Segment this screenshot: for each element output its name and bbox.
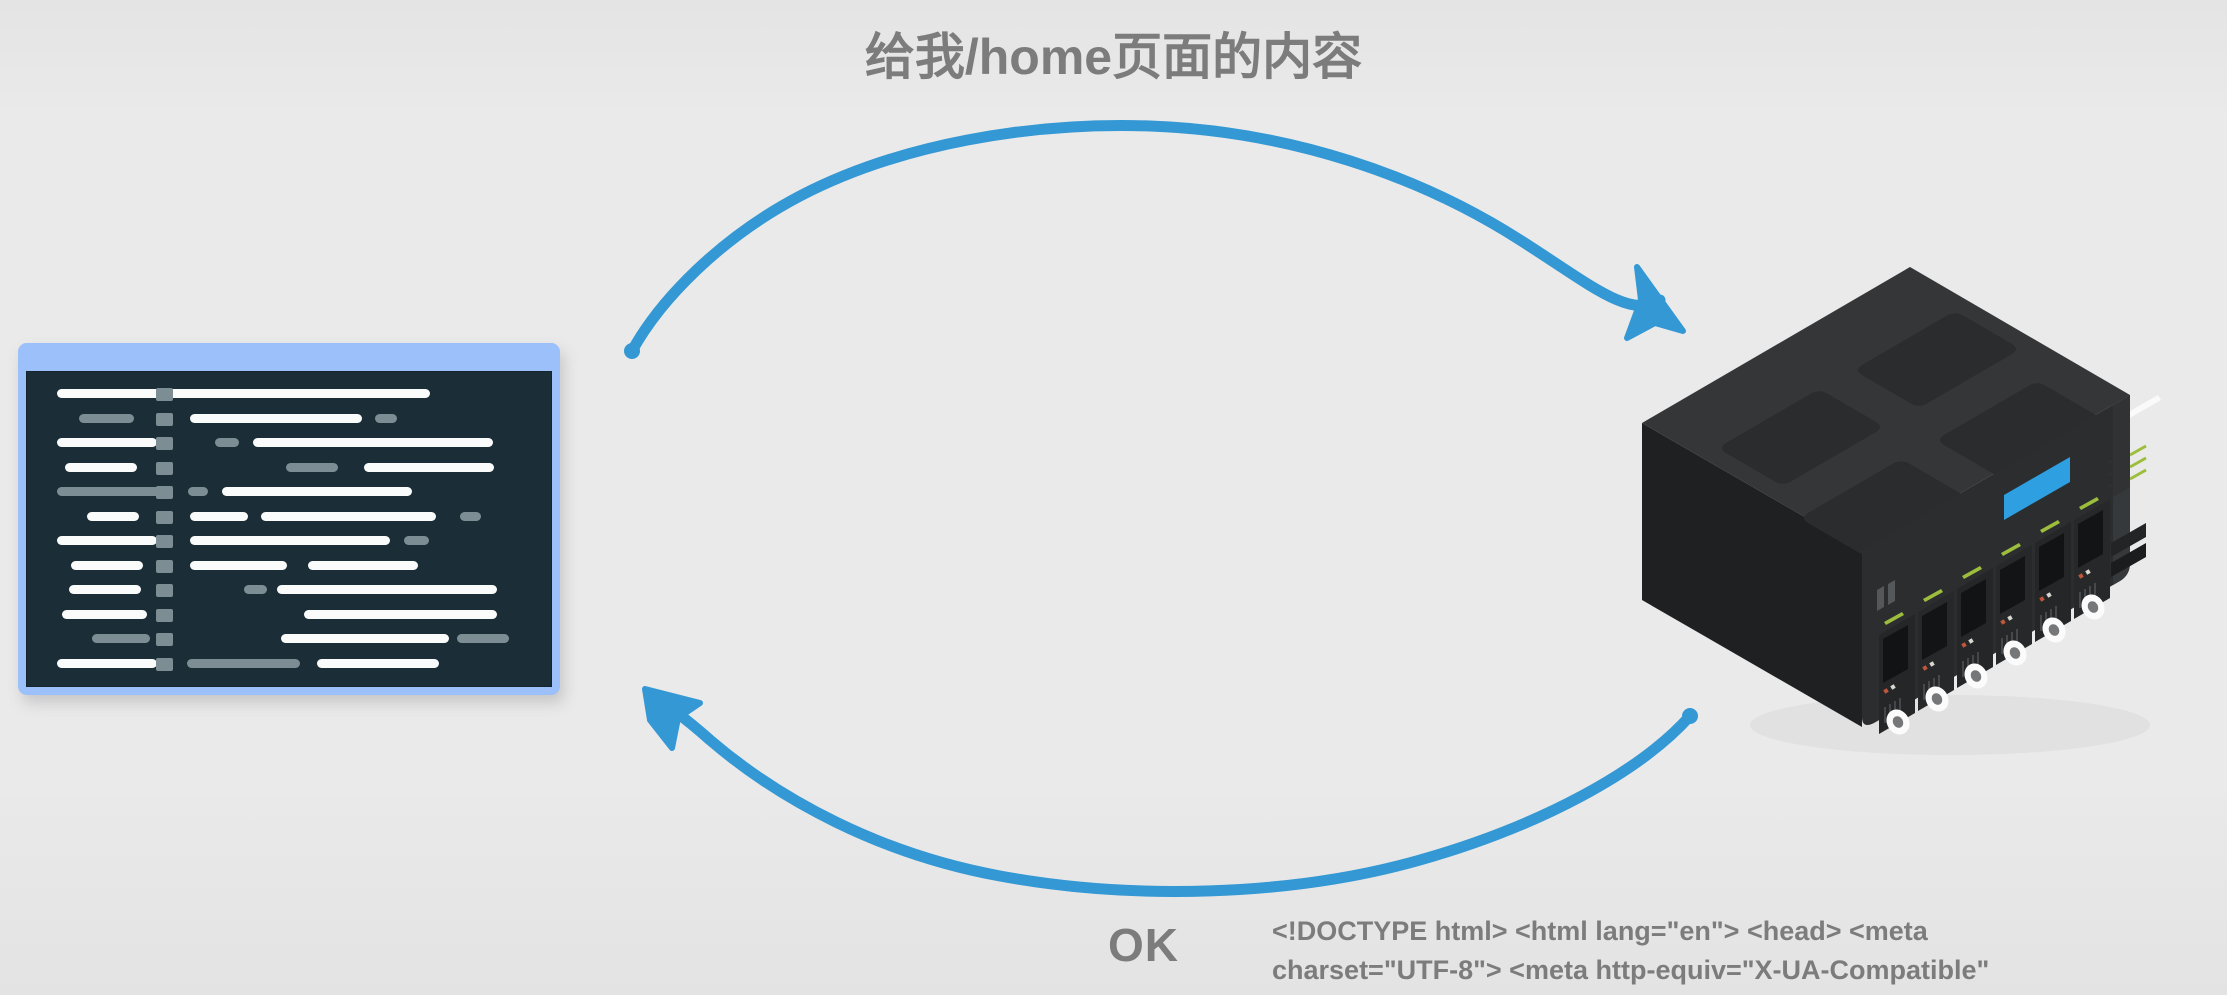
code-token-bar (87, 512, 139, 521)
request-label: 给我/home页面的内容 (0, 30, 2227, 85)
code-token-bar (190, 512, 248, 521)
code-line-row (27, 609, 551, 621)
code-gutter-marker (156, 462, 173, 475)
code-token-bar (281, 634, 449, 643)
code-token-bar (244, 585, 267, 594)
code-token-bar (222, 487, 412, 496)
code-gutter-marker (156, 486, 173, 499)
code-token-bar (404, 536, 429, 545)
editor-titlebar (18, 343, 560, 371)
code-token-bar (187, 659, 300, 668)
code-line-row (27, 511, 551, 523)
code-token-bar (261, 512, 436, 521)
code-token-bar (304, 610, 497, 619)
code-line-row (27, 437, 551, 449)
code-gutter-marker (156, 535, 173, 548)
code-line-row (27, 535, 551, 547)
code-line-row (27, 486, 551, 498)
response-arrow (645, 689, 1698, 891)
panel-led-lines (2130, 446, 2146, 479)
code-token-bar (375, 414, 397, 423)
code-line-row (27, 560, 551, 572)
code-gutter-marker (156, 388, 173, 401)
code-gutter-marker (156, 413, 173, 426)
response-body: <!DOCTYPE html> <html lang="en"> <head> … (1272, 912, 2212, 990)
code-line-row (27, 584, 551, 596)
code-gutter-marker (156, 560, 173, 573)
code-token-bar (190, 414, 362, 423)
diagram-canvas: 给我/home页面的内容 (0, 0, 2227, 995)
code-token-bar (57, 438, 157, 447)
code-token-bar (215, 438, 239, 447)
code-token-bar (190, 389, 430, 398)
code-line-row (27, 633, 551, 645)
code-token-bar (188, 487, 208, 496)
rack-server (1630, 245, 2190, 775)
response-status-label: OK (1108, 918, 1179, 972)
code-token-bar (457, 634, 509, 643)
code-gutter-marker (156, 437, 173, 450)
code-line-row (27, 388, 551, 400)
code-gutter-marker (156, 609, 173, 622)
code-token-bar (277, 585, 497, 594)
code-line-row (27, 462, 551, 474)
code-gutter-marker (156, 633, 173, 646)
code-token-bar (253, 438, 493, 447)
code-token-bar (317, 659, 439, 668)
code-token-bar (79, 414, 134, 423)
code-line-row (27, 413, 551, 425)
response-body-line-2: charset="UTF-8"> <meta http-equiv="X-UA-… (1272, 951, 2212, 990)
response-body-line-1: <!DOCTYPE html> <html lang="en"> <head> … (1272, 912, 2212, 951)
code-token-bar (92, 634, 150, 643)
code-editor-window (18, 343, 560, 695)
code-token-bar (364, 463, 494, 472)
code-gutter-marker (156, 511, 173, 524)
code-line-row (27, 658, 551, 670)
code-token-bar (308, 561, 418, 570)
code-token-bar (190, 561, 287, 570)
code-token-bar (69, 585, 141, 594)
code-token-bar (57, 389, 212, 398)
code-token-bar (65, 463, 137, 472)
code-token-bar (57, 659, 157, 668)
code-token-bar (71, 561, 143, 570)
code-token-bar (57, 536, 157, 545)
code-token-bar (190, 536, 390, 545)
code-token-bar (62, 610, 147, 619)
code-token-bar (460, 512, 481, 521)
code-gutter-marker (156, 658, 173, 671)
code-gutter-marker (156, 584, 173, 597)
request-arrow (624, 126, 1683, 359)
editor-code-area (26, 371, 552, 687)
code-token-bar (57, 487, 162, 496)
code-token-bar (286, 463, 338, 472)
